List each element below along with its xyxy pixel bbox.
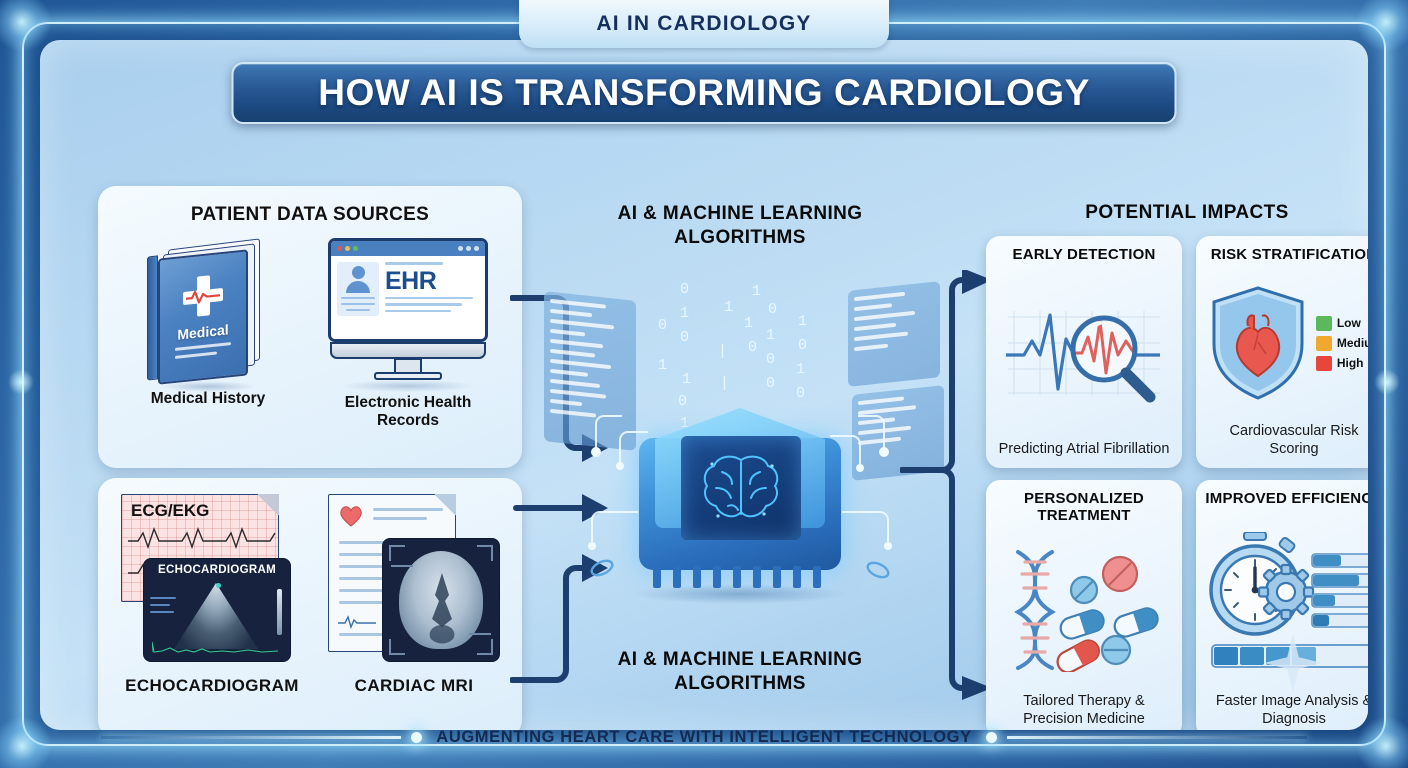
ecg-magnifier-icon xyxy=(994,263,1174,440)
impact-card-early-detection[interactable]: EARLY DETECTION xyxy=(986,236,1182,468)
cardiac-mri-icon xyxy=(324,494,504,662)
footer-node-right xyxy=(986,732,997,743)
legend-swatch-high xyxy=(1316,356,1332,371)
data-source-item-medical-history: Medical Medical History xyxy=(120,242,296,408)
impact-card-improved-efficiency[interactable]: IMPROVED EFFICIENCY xyxy=(1196,480,1368,730)
echo-card-label: ECHOCARDIOGRAM xyxy=(144,559,290,576)
book-label: Medical xyxy=(177,321,228,342)
data-source-item-ehr: EHR Electronic Health Records xyxy=(312,238,504,430)
patient-data-sources-panel: PATIENT DATA SOURCES Medical Me xyxy=(98,186,522,468)
ai-brain-chip-icon xyxy=(611,402,869,598)
legend-item: Medium xyxy=(1316,336,1368,351)
imaging-sources-panel: ECG/EKG ECHOCARDIOGRAM xyxy=(98,478,522,730)
footer-tagline: AUGMENTING HEART CARE WITH INTELLIGENT T… xyxy=(432,728,975,747)
top-tab-label: AI IN CARDIOLOGY xyxy=(596,12,811,36)
imaging-caption: ECHOCARDIOGRAM xyxy=(125,676,299,696)
medical-book-icon: Medical xyxy=(152,242,264,384)
top-tab-badge: AI IN CARDIOLOGY xyxy=(519,0,889,48)
center-footer-label: AI & MACHINE LEARNING ALGORITHMS xyxy=(560,648,920,696)
imaging-item-cardiac-mri: CARDIAC MRI xyxy=(316,494,512,696)
corner-glow-top-left xyxy=(0,0,52,52)
imaging-item-echocardiogram: ECG/EKG ECHOCARDIOGRAM xyxy=(112,494,312,696)
center-heading: AI & MACHINE LEARNING ALGORITHMS xyxy=(560,202,920,250)
data-source-caption: Electronic Health Records xyxy=(312,394,504,430)
impacts-heading: POTENTIAL IMPACTS xyxy=(992,202,1368,224)
legend-item: High xyxy=(1316,356,1368,371)
footer-rule-left xyxy=(101,736,401,739)
impact-card-title: EARLY DETECTION xyxy=(1012,246,1155,263)
ehr-monitor-icon: EHR xyxy=(322,238,494,384)
ehr-screen-label: EHR xyxy=(385,269,479,294)
title-banner: HOW AI IS TRANSFORMING CARDIOLOGY xyxy=(232,62,1177,124)
patient-avatar xyxy=(337,262,379,316)
impact-card-title: RISK STRATIFICATION xyxy=(1211,246,1368,263)
infographic-canvas: PATIENT DATA SOURCES Medical Me xyxy=(40,40,1368,730)
impact-card-personalized-treatment[interactable]: PERSONALIZED TREATMENT xyxy=(986,480,1182,730)
edge-glow-left xyxy=(8,369,34,395)
footer-node-left xyxy=(411,732,422,743)
impact-card-description: Cardiovascular Risk Scoring xyxy=(1204,423,1368,458)
heart-shield-icon: Low Medium High xyxy=(1204,263,1368,423)
impact-card-title: IMPROVED EFFICIENCY xyxy=(1205,490,1368,507)
ai-chip-illustration: 01 00 11 01 1| |1 01 00 10 10 10 xyxy=(530,250,950,630)
brain-glyph xyxy=(681,436,801,540)
footer-tagline-bar: AUGMENTING HEART CARE WITH INTELLIGENT T… xyxy=(0,722,1408,752)
impact-card-risk-stratification[interactable]: RISK STRATIFICATION Low M xyxy=(1196,236,1368,468)
page-title: HOW AI IS TRANSFORMING CARDIOLOGY xyxy=(318,72,1090,114)
ecg-echo-icon: ECG/EKG ECHOCARDIOGRAM xyxy=(117,494,307,662)
legend-label: Medium xyxy=(1337,336,1368,350)
impact-card-description: Predicting Atrial Fibrillation xyxy=(999,441,1170,458)
legend-swatch-low xyxy=(1316,316,1332,331)
legend-swatch-medium xyxy=(1316,336,1332,351)
imaging-caption: CARDIAC MRI xyxy=(355,676,474,696)
panel-title-patient-data-sources: PATIENT DATA SOURCES xyxy=(98,204,522,226)
edge-glow-right xyxy=(1374,369,1400,395)
data-source-caption: Medical History xyxy=(151,390,266,408)
legend-label: Low xyxy=(1337,316,1361,330)
dna-pills-icon xyxy=(994,525,1174,694)
risk-legend: Low Medium High xyxy=(1316,316,1368,371)
footer-rule-right xyxy=(1007,736,1307,739)
ecg-paper-label: ECG/EKG xyxy=(131,501,209,521)
legend-label: High xyxy=(1337,356,1364,370)
corner-glow-top-right xyxy=(1356,0,1408,52)
impact-card-title: PERSONALIZED TREATMENT xyxy=(994,490,1174,525)
legend-item: Low xyxy=(1316,316,1368,331)
